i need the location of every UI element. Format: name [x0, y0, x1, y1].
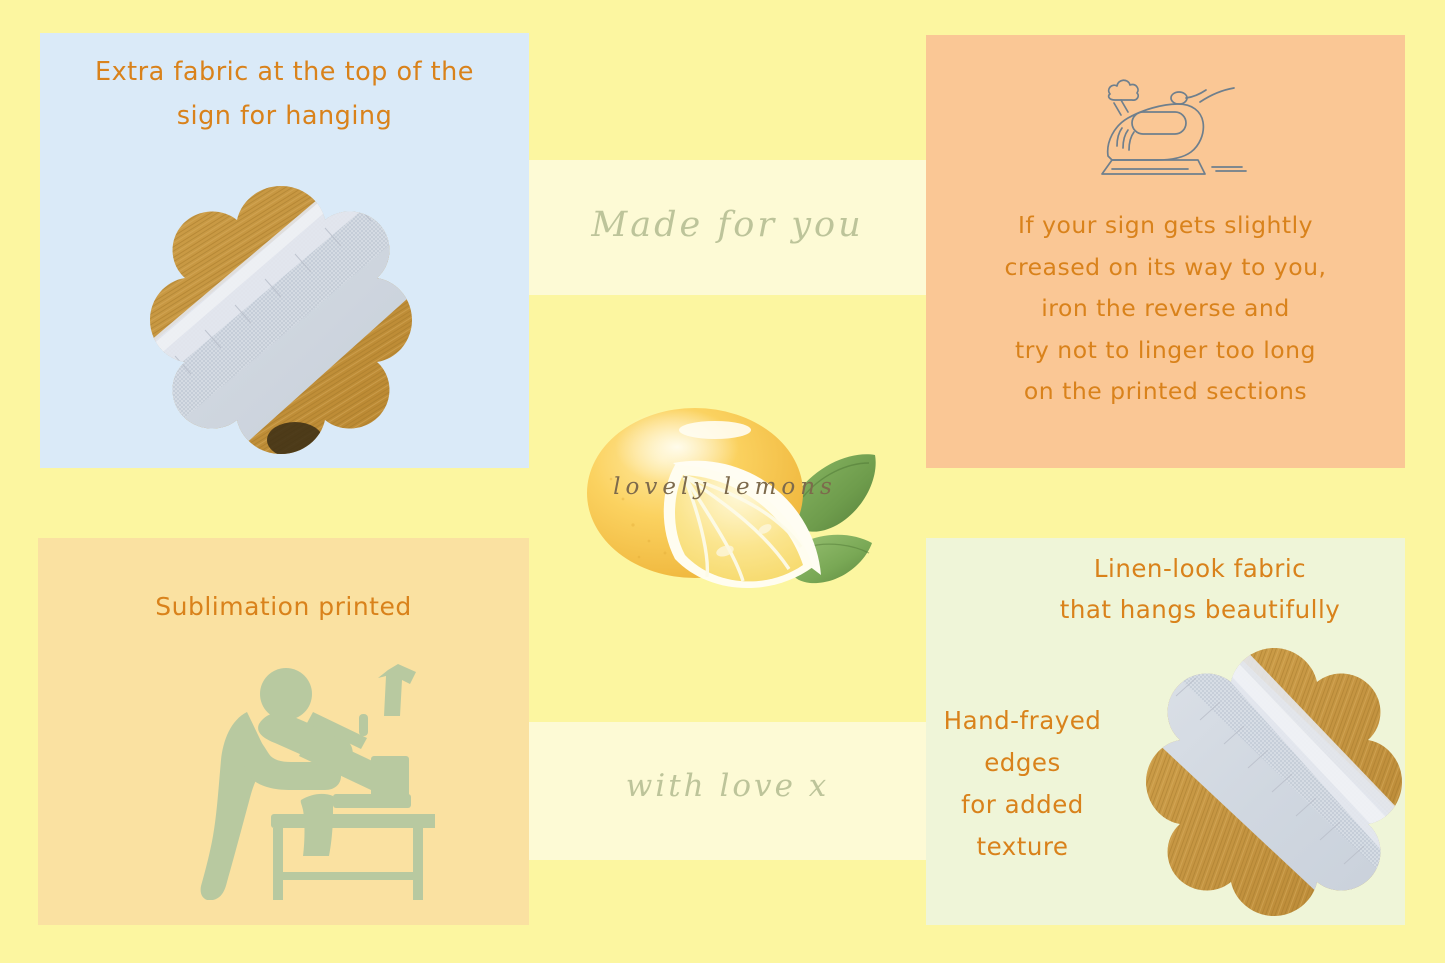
with-love-text: with love x	[529, 752, 926, 820]
heat-press-worker-icon	[185, 660, 435, 900]
hanging-info-heading: Extra fabric at the top of the sign for …	[40, 50, 529, 138]
frayed-edges-subheading: Hand-frayed edges for added texture	[930, 700, 1115, 868]
ironing-care-heading: If your sign gets slightly creased on it…	[926, 205, 1405, 413]
fabric-quality-heading: Linen-look fabric that hangs beautifully	[1000, 548, 1400, 630]
flower-fabric-sign-photo	[1140, 640, 1408, 923]
infographic-canvas: Extra fabric at the top of the sign for …	[0, 0, 1445, 963]
brand-wordmark: lovely lemons	[545, 470, 905, 504]
flower-fabric-sign-photo	[145, 178, 417, 458]
made-for-you-text: Made for you	[529, 190, 926, 260]
printing-method-heading: Sublimation printed	[38, 588, 529, 626]
steam-iron-icon	[1090, 72, 1250, 184]
